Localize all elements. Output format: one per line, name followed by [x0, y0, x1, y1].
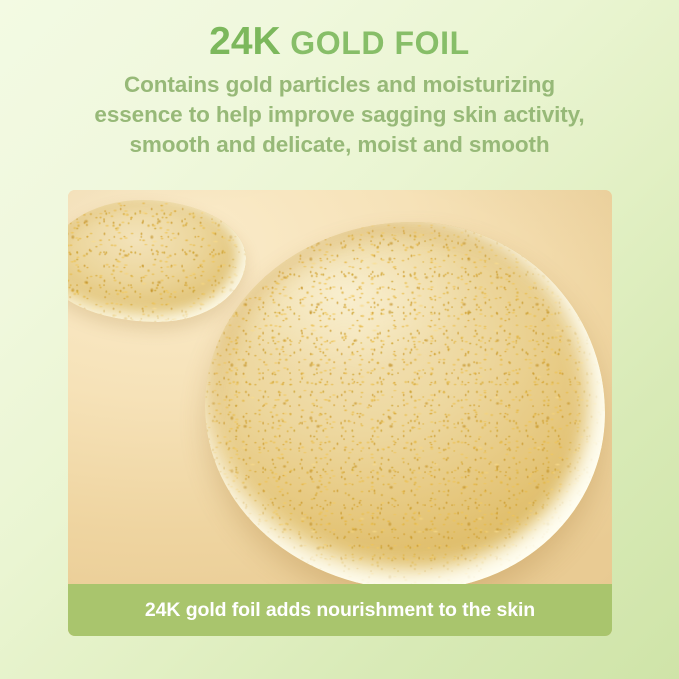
gold-flakes-texture-main — [205, 222, 605, 590]
caption-text: 24K gold foil adds nourishment to the sk… — [145, 599, 535, 622]
gel-blob-main — [205, 222, 605, 590]
page-title-rest: GOLD FOIL — [281, 25, 470, 61]
header-block: 24K GOLD FOIL Contains gold particles an… — [0, 22, 679, 160]
subtitle-line-1: Contains gold particles and moisturizing — [0, 70, 679, 100]
subtitle-line-2: essence to help improve sagging skin act… — [0, 100, 679, 130]
product-photo — [68, 190, 612, 636]
subtitle-block: Contains gold particles and moisturizing… — [0, 70, 679, 160]
product-infographic-page: 24K GOLD FOIL Contains gold particles an… — [0, 0, 679, 679]
page-title: 24K GOLD FOIL — [0, 22, 679, 61]
page-title-emphasis: 24K — [209, 20, 281, 63]
caption-bar: 24K gold foil adds nourishment to the sk… — [68, 584, 612, 636]
subtitle-line-3: smooth and delicate, moist and smooth — [0, 130, 679, 160]
gold-flakes-texture-main-large — [205, 222, 605, 590]
